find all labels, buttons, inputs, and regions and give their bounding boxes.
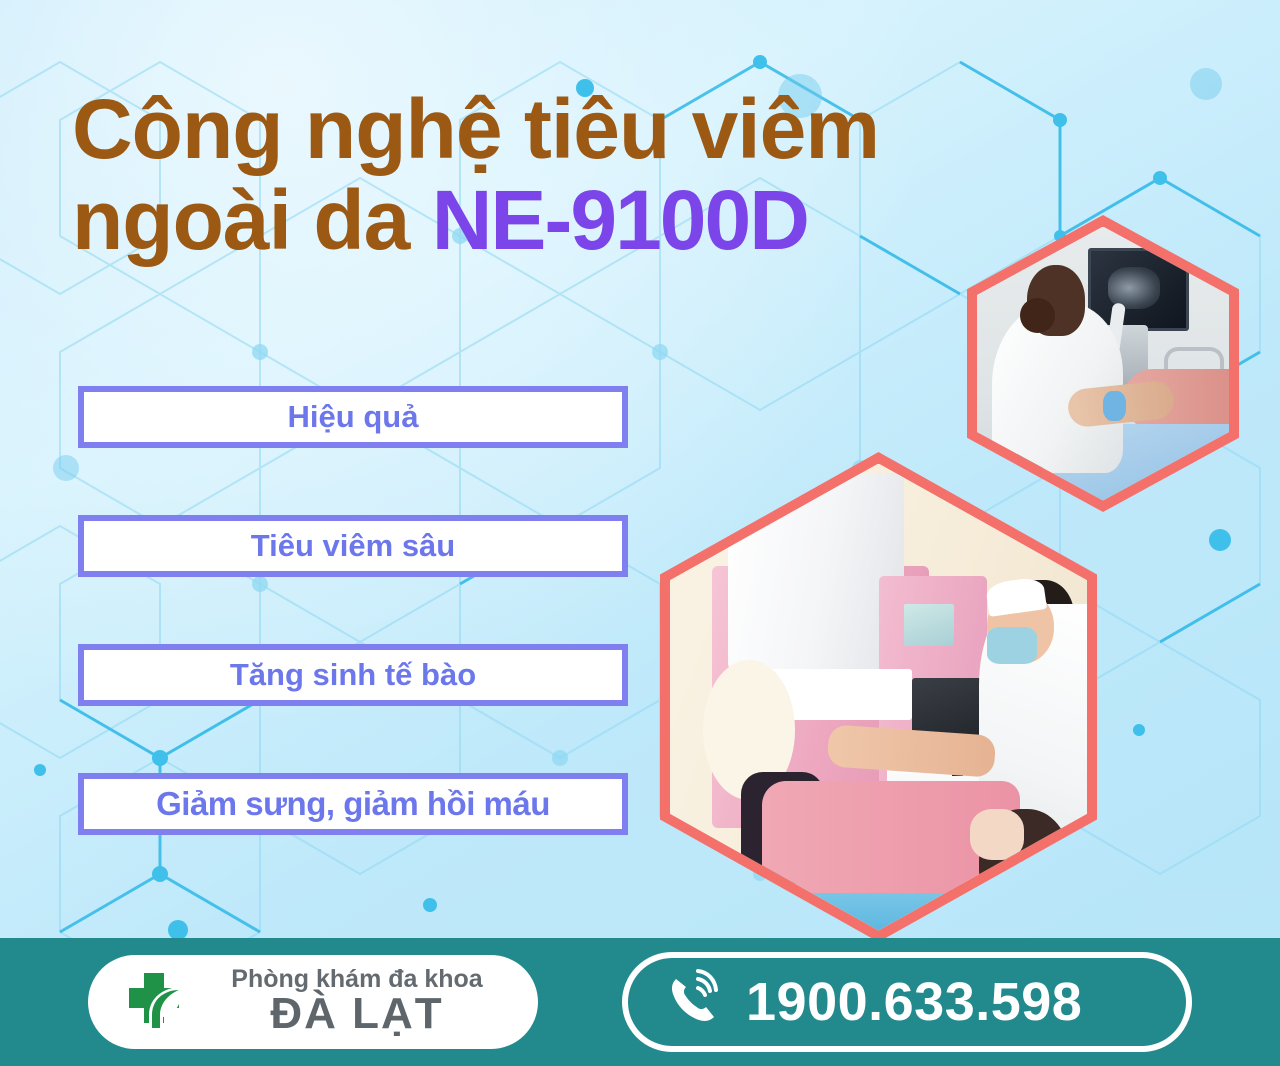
headline-line-2-prefix: ngoài da bbox=[72, 173, 432, 267]
clinic-name: ĐÀ LẠT bbox=[202, 992, 512, 1037]
feature-label: Hiệu quả bbox=[288, 399, 419, 435]
medical-cross-leaf-icon bbox=[110, 965, 202, 1039]
feature-item-2[interactable]: Tiêu viêm sâu bbox=[78, 515, 628, 577]
footer-bar: Phòng khám đa khoa ĐÀ LẠT 1900.633.598 bbox=[0, 938, 1280, 1066]
feature-item-3[interactable]: Tăng sinh tế bào bbox=[78, 644, 628, 706]
feature-item-1[interactable]: Hiệu quả bbox=[78, 386, 628, 448]
clinic-logo-pill[interactable]: Phòng khám đa khoa ĐÀ LẠT bbox=[88, 955, 538, 1049]
phone-number: 1900.633.598 bbox=[746, 971, 1082, 1033]
feature-list: Hiệu quả Tiêu viêm sâu Tăng sinh tế bào … bbox=[78, 386, 628, 902]
feature-item-4[interactable]: Giảm sưng, giảm hồi máu bbox=[78, 773, 628, 835]
product-model-name: NE-9100D bbox=[432, 173, 808, 267]
ringing-phone-icon bbox=[662, 969, 724, 1036]
feature-label: Tiêu viêm sâu bbox=[251, 528, 455, 564]
clinic-logo-text: Phòng khám đa khoa ĐÀ LẠT bbox=[202, 967, 538, 1037]
feature-label: Giảm sưng, giảm hồi máu bbox=[156, 785, 550, 823]
headline-line-2: ngoài da NE-9100D bbox=[72, 175, 1032, 266]
page-title: Công nghệ tiêu viêm ngoài da NE-9100D bbox=[72, 84, 1032, 265]
headline-line-1: Công nghệ tiêu viêm bbox=[72, 82, 879, 176]
phone-cta-button[interactable]: 1900.633.598 bbox=[622, 952, 1192, 1052]
feature-label: Tăng sinh tế bào bbox=[230, 657, 476, 693]
